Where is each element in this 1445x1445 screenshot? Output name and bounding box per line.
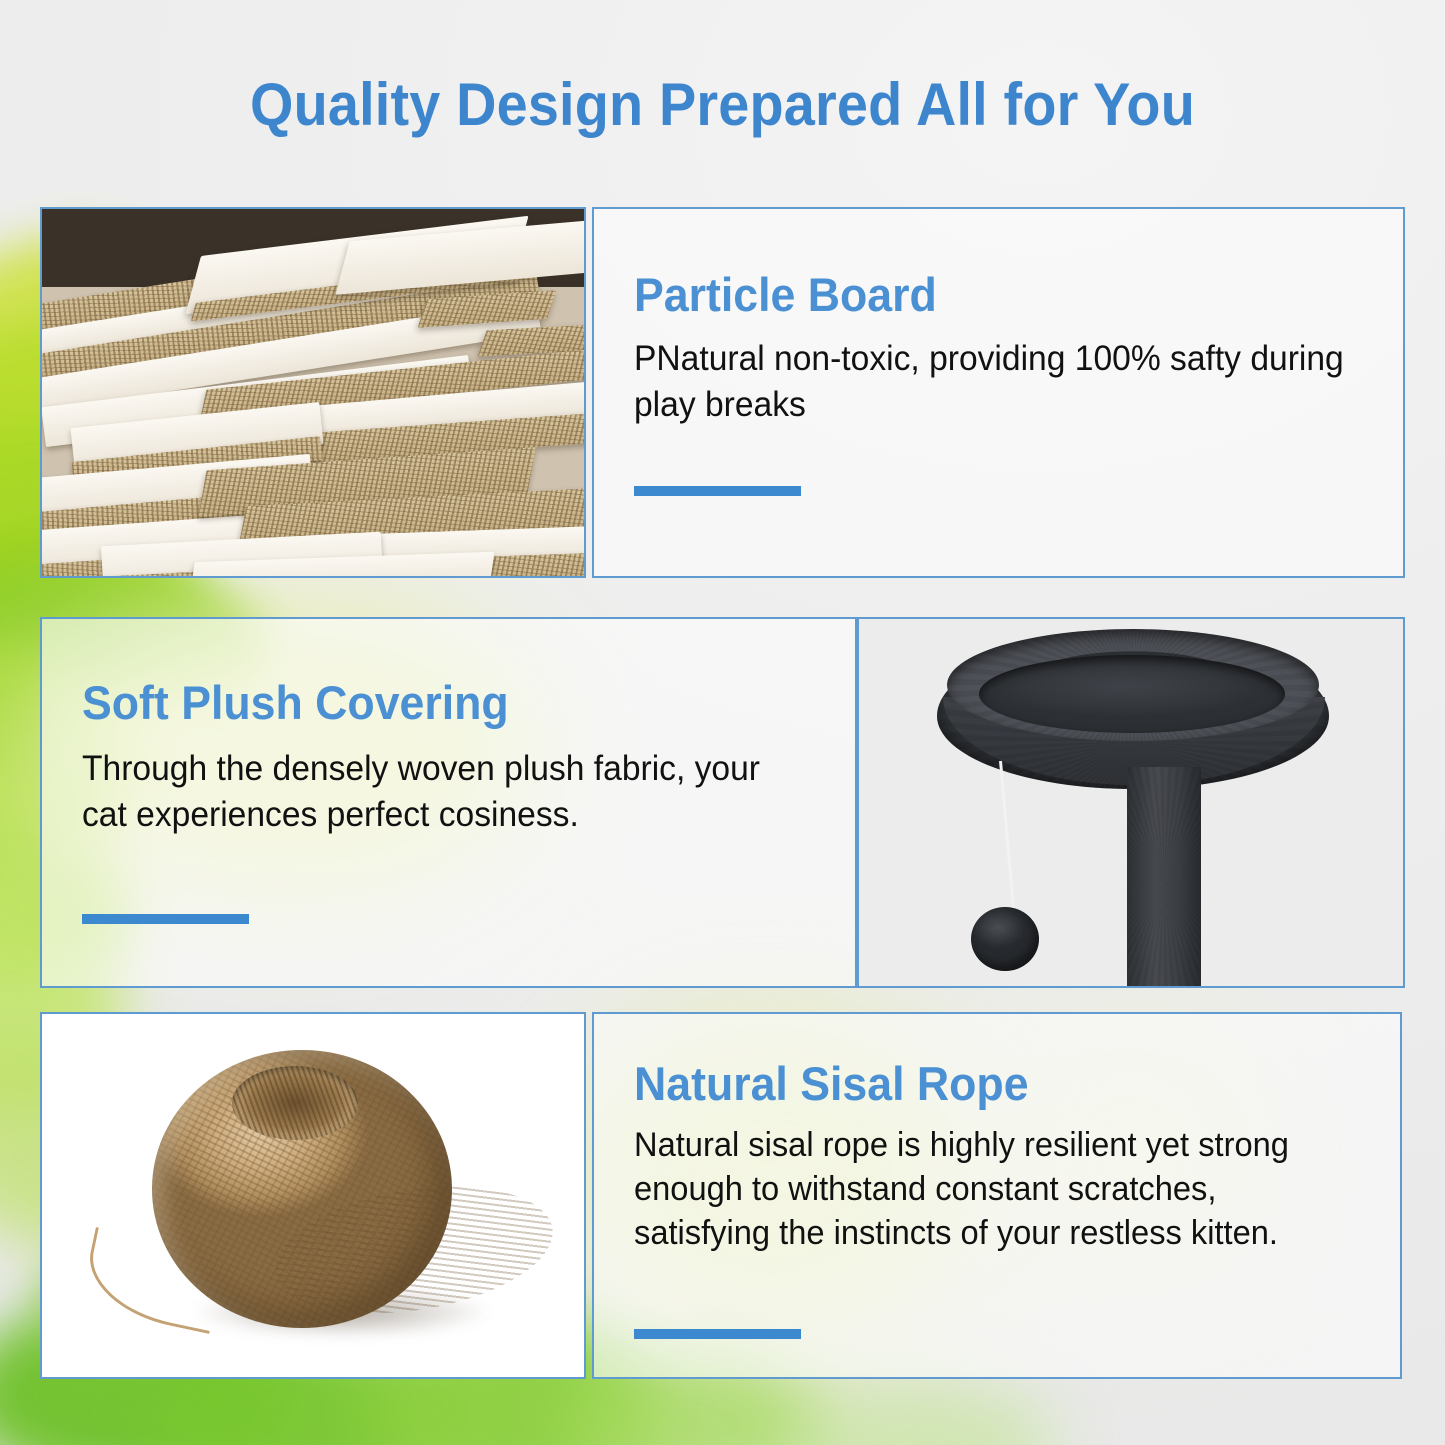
cat-tree-post [1127,767,1201,988]
cat-perch-inner-surface [979,655,1285,733]
sisal-rope-text-panel: Natural Sisal Rope Natural sisal rope is… [592,1012,1402,1379]
particle-board-heading: Particle Board [634,267,1340,322]
sisal-rope-accent-bar [634,1329,801,1339]
particle-board-photo [42,209,584,576]
soft-plush-heading: Soft Plush Covering [82,675,792,730]
particle-board-description: PNatural non-toxic, providing 100% safty… [634,336,1347,427]
sisal-rope-description: Natural sisal rope is highly resilient y… [634,1123,1344,1256]
soft-plush-text: Soft Plush Covering Through the densely … [82,675,829,837]
soft-plush-accent-bar [82,914,249,924]
soft-plush-description: Through the densely woven plush fabric, … [82,746,799,837]
sisal-rope-heading: Natural Sisal Rope [634,1056,1337,1111]
soft-plush-image-panel [857,617,1405,988]
particle-board-accent-bar [634,486,801,496]
plush-texture [971,907,1039,971]
page-title: Quality Design Prepared All for You [51,70,1395,139]
pom-pom-toy [971,907,1039,971]
twine-winding-band [266,1169,561,1331]
plush-texture [1127,767,1201,988]
pom-pom-string [999,761,1015,916]
twine-ball-core [232,1066,358,1140]
cat-tree-photo [859,619,1403,986]
particle-board-image-panel [40,207,586,578]
sisal-rope-image-panel [40,1012,586,1379]
particle-board-text: Particle Board PNatural non-toxic, provi… [634,267,1377,427]
soft-plush-text-panel: Soft Plush Covering Through the densely … [40,617,857,988]
particle-board-text-panel: Particle Board PNatural non-toxic, provi… [592,207,1405,578]
sisal-rope-photo [42,1014,584,1377]
sisal-rope-text: Natural Sisal Rope Natural sisal rope is… [634,1056,1374,1256]
